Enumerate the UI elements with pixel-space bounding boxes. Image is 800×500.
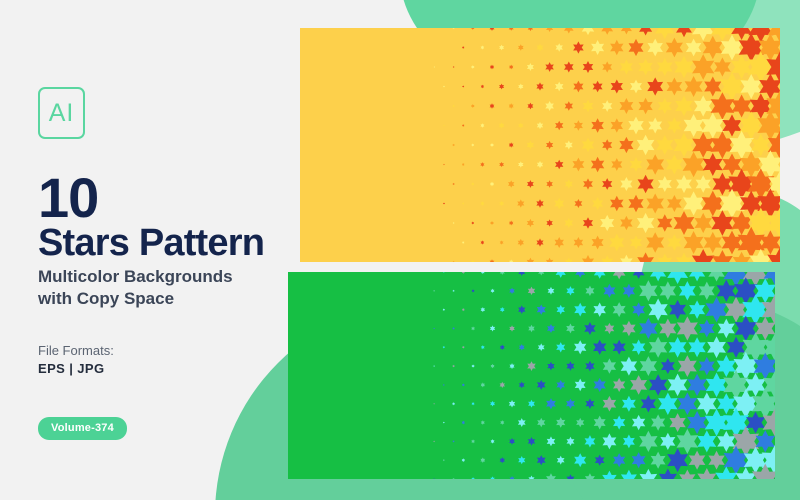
adobe-illustrator-badge-icon: AI	[38, 87, 85, 139]
green-stars-panel	[288, 272, 775, 479]
info-column: AI 10 Stars Pattern Multicolor Backgroun…	[38, 0, 288, 500]
ai-badge-label: AI	[49, 101, 75, 126]
yellow-stars-panel	[300, 28, 780, 262]
file-formats-value: EPS | JPG	[38, 361, 105, 376]
thumbnail-canvas: AI 10 Stars Pattern Multicolor Backgroun…	[0, 0, 800, 500]
headline-count: 10	[38, 170, 98, 226]
volume-badge: Volume-374	[38, 417, 127, 440]
file-formats-label: File Formats:	[38, 343, 114, 358]
subtitle: Multicolor Backgrounds with Copy Space	[38, 266, 288, 310]
page-title: Stars Pattern	[38, 224, 264, 262]
yellow-stars-pattern	[300, 28, 780, 262]
green-stars-pattern	[288, 272, 775, 479]
